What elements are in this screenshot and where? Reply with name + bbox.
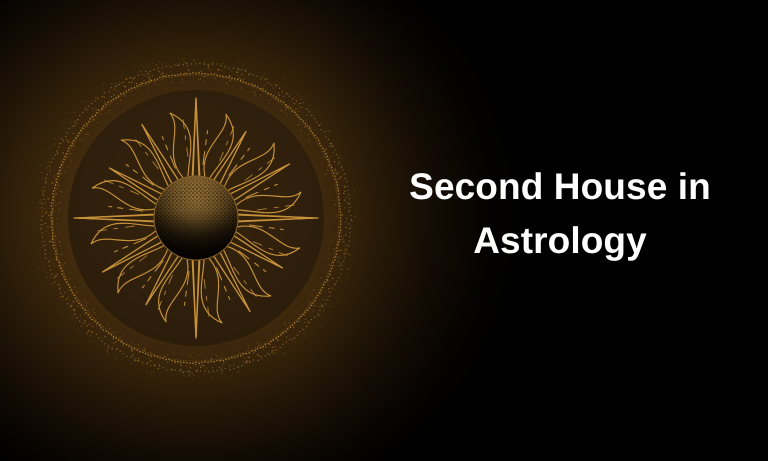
sun-mandala-artwork <box>0 0 400 461</box>
title-line-2: Astrology <box>400 214 720 268</box>
title-line-1: Second House in <box>400 160 720 214</box>
poster-canvas: Second House in Astrology <box>0 0 768 461</box>
page-title: Second House in Astrology <box>400 160 720 267</box>
